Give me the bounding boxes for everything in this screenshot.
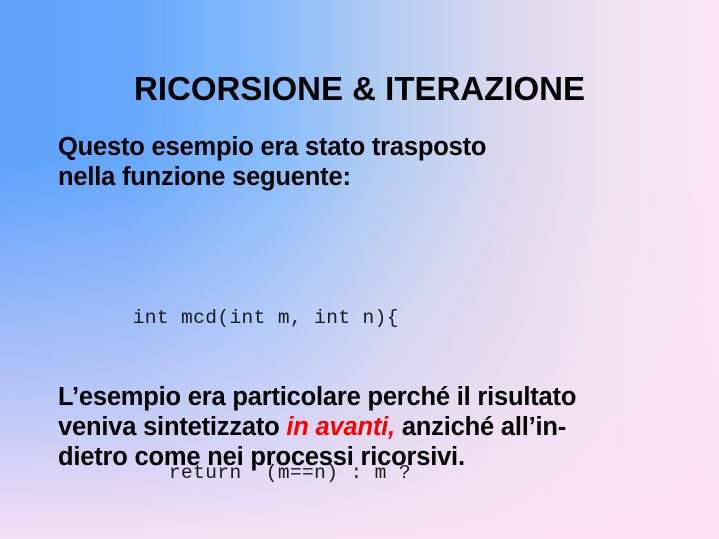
slide-title: RICORSIONE & ITERAZIONE [0, 72, 719, 105]
code-segment: int mcd(int m, int n){ [133, 307, 399, 329]
closing-paragraph: L’esempio era particolare perché il risu… [58, 352, 698, 472]
presentation-slide: RICORSIONE & ITERAZIONE Questo esempio e… [0, 0, 719, 539]
closing-paragraph-emphasis: in avanti, [286, 413, 395, 441]
intro-paragraph: Questo esempio era stato trasposto nella… [58, 132, 658, 192]
